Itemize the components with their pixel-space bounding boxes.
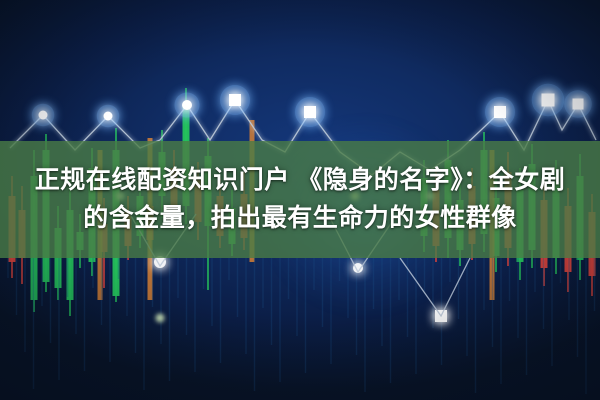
banner-image: 正规在线配资知识门户 《隐身的名字》：全女剧 的含金量，拍出最有生命力的女性群像 — [0, 0, 600, 400]
financial-chart — [0, 0, 600, 400]
candlestick-layer — [8, 88, 596, 394]
